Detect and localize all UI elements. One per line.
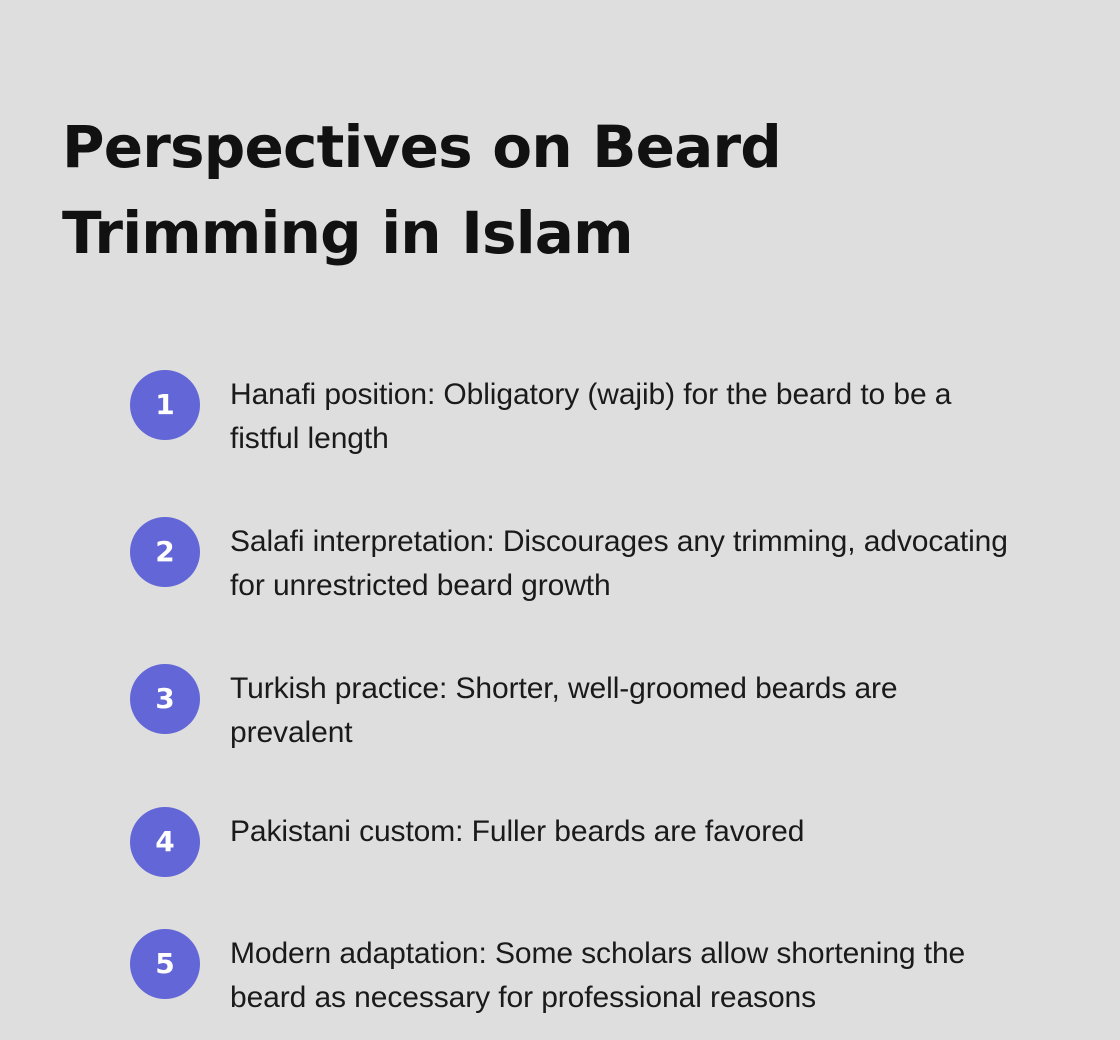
list-item-text: Modern adaptation: Some scholars allow s…: [230, 927, 1025, 1020]
list-item-number-badge: 2: [130, 517, 200, 587]
title-block: Perspectives on Beard Trimming in Islam: [62, 104, 962, 276]
list-item-number-badge: 3: [130, 664, 200, 734]
list-item-text: Salafi interpretation: Discourages any t…: [230, 515, 1025, 608]
list-item: 1 Hanafi position: Obligatory (wajib) fo…: [130, 368, 1050, 461]
list-item-number-badge: 4: [130, 807, 200, 877]
list-item: 5 Modern adaptation: Some scholars allow…: [130, 927, 1050, 1020]
numbered-points-list: 1 Hanafi position: Obligatory (wajib) fo…: [130, 368, 1050, 1020]
slide-canvas: Perspectives on Beard Trimming in Islam …: [0, 0, 1120, 1040]
list-item-number-badge: 5: [130, 929, 200, 999]
list-item-text: Turkish practice: Shorter, well-groomed …: [230, 662, 1025, 755]
page-title: Perspectives on Beard Trimming in Islam: [62, 104, 792, 276]
list-item-number-badge: 1: [130, 370, 200, 440]
list-item: 4 Pakistani custom: Fuller beards are fa…: [130, 805, 1050, 877]
list-item: 3 Turkish practice: Shorter, well-groome…: [130, 662, 1050, 755]
list-item-text: Hanafi position: Obligatory (wajib) for …: [230, 368, 1025, 461]
list-item-text: Pakistani custom: Fuller beards are favo…: [230, 805, 1025, 854]
list-item: 2 Salafi interpretation: Discourages any…: [130, 515, 1050, 608]
